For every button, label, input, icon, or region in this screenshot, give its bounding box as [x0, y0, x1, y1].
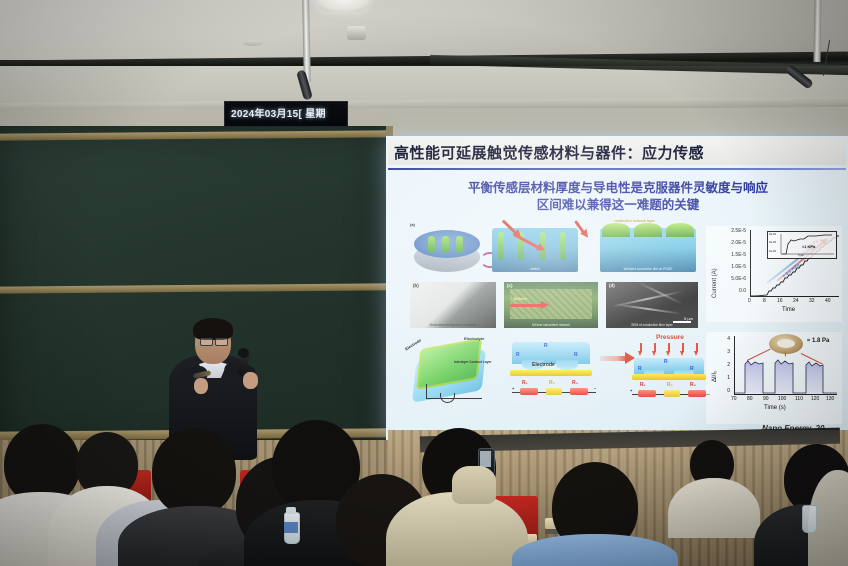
chart-current-vs-time: Current (A) 2.5E-5 2.0E-5 1.5E-5 1.0E-5 …	[706, 226, 842, 322]
chart1-xtick-1: 8	[763, 298, 766, 304]
chart2-ylabel: ΔI/I₀	[712, 371, 718, 383]
chart2-ytick-0: 0	[720, 388, 730, 394]
chart1-inset-ytick-2: 1E-03	[769, 233, 776, 236]
chart1-inset-annotation: ≈1 KPa	[802, 244, 815, 249]
circuit-resistor-label-2: R₂	[549, 380, 555, 386]
panel-d-scalebar-label: 5 μm	[684, 316, 693, 321]
panel-b-caption: Stretchable transparent substrate	[410, 323, 496, 327]
circuit-plus-1: +	[512, 386, 514, 391]
chart2-annotation-pressure: ≈ 1.8 Pa	[807, 338, 829, 344]
chart2-xtick-4: 110	[795, 396, 803, 402]
microphone-head	[238, 348, 249, 358]
chart1-xtick-2: 16	[777, 298, 783, 304]
chart1-inset-ytick-1: 1E-05	[769, 241, 776, 244]
resistance-label-pressed-rc2: R	[690, 366, 694, 372]
resistance-label-rc1: R	[516, 352, 520, 358]
chart2-xtick-3: 100	[778, 396, 786, 402]
smoke-detector-icon	[347, 26, 366, 40]
ceiling-vent	[243, 40, 263, 46]
chart1-xtick-3: 24	[793, 298, 799, 304]
chart1-ytick-2: 1.0E-5	[714, 264, 746, 270]
chart2-xtick-2: 90	[763, 396, 769, 402]
chart1-inset-ytick-0: 1E-06	[769, 250, 776, 253]
panel-c-arrow-label: MXene	[514, 296, 527, 301]
chart2-device-photo	[769, 334, 803, 354]
circuit-pressed-resistor-label-3: R₃	[690, 382, 696, 388]
device-electrolyte-label: Electrolyte	[464, 336, 484, 341]
ceiling-shading	[0, 0, 848, 60]
chart1-xtick-0: 0	[748, 298, 751, 304]
chart1-inset-xlabel: Time	[798, 254, 804, 257]
chart1-ytick-3: 1.5E-5	[714, 252, 746, 258]
panel-a-film-right: Wrinkled conductive film on PDMS	[600, 228, 696, 272]
figure-device-schematic: Electrode Electrolyte Interlayer Conduct…	[404, 336, 704, 428]
chart2-ytick-1: 1	[720, 375, 730, 381]
figure-panels-bcd: (b) Stretchable transparent substrate (c…	[404, 282, 704, 330]
circuit-minus-1: −	[594, 386, 596, 391]
speaker-hand-left	[194, 378, 208, 394]
panel-d-caption: SEM of conductive fiber layer	[606, 323, 698, 327]
panel-a-disk-schematic	[414, 230, 480, 274]
slide-subtitle-line-1: 平衡传感层材料厚度与导电性是克服器件灵敏度与响应	[396, 180, 840, 197]
circuit-resistor-label-1: R₁	[522, 380, 528, 386]
chart2-xtick-0: 70	[731, 396, 737, 402]
water-bottle-cap	[286, 507, 296, 514]
chart1-ytick-4: 2.0E-5	[714, 240, 746, 246]
panel-a-label: (a)	[410, 222, 415, 227]
chart-current-ratio-vs-time: ΔI/I₀ 4 3 2 1 0	[706, 332, 842, 424]
slide-title-underline	[388, 168, 846, 170]
chart2-ytick-2: 2	[720, 362, 730, 368]
slide-subtitle: 平衡传感层材料厚度与导电性是克服器件灵敏度与响应 区间难以兼得这一难题的关键	[396, 180, 840, 214]
speaker-hair	[193, 318, 233, 340]
circuit-pressed-resistor-label-2: R₂	[667, 382, 673, 388]
slide-subtitle-line-2: 区间难以兼得这一难题的关键	[396, 197, 840, 214]
device-electrode-label-2: Electrode	[532, 362, 555, 368]
date-display-panel: 2024年03月15[ 星期	[224, 101, 348, 127]
glasses-right-lens-icon	[215, 338, 228, 346]
panel-b-label: (b)	[413, 283, 419, 288]
chart1-xlabel: Time	[782, 307, 795, 313]
resistance-label-pressed-rs: R	[664, 359, 668, 365]
date-display-text: 2024年03月15[ 星期	[231, 105, 326, 120]
chart2-xtick-6: 130	[826, 396, 834, 402]
chart2-ytick-3: 3	[720, 349, 730, 355]
water-bottle-label	[284, 522, 298, 533]
glasses-left-lens-icon	[200, 338, 213, 346]
chart1-ytick-5: 2.5E-5	[714, 228, 746, 234]
resistance-label-rc2: R	[574, 352, 578, 358]
device-interlayer-label: Interlayer Conduct Layer	[454, 360, 492, 364]
transition-arrow	[600, 356, 628, 361]
circuit-plus-2: +	[630, 388, 632, 393]
chart1-xtick-4: 32	[809, 298, 815, 304]
panel-a-caption: Wrinkled conductive film on PDMS	[600, 267, 696, 271]
chart2-xtick-5: 120	[811, 396, 819, 402]
pressure-label: Pressure	[656, 334, 684, 341]
panel-d-label: (d)	[609, 283, 615, 288]
speaker-hand-right	[243, 372, 258, 389]
figure-panel-c: (c) MXene MXene nanosheet network	[504, 282, 598, 328]
hanging-pole-right	[813, 0, 821, 62]
panel-c-caption: MXene nanosheet network	[504, 323, 598, 327]
chart2-xtick-1: 80	[747, 396, 753, 402]
circuit-resistor-label-3: R₃	[572, 380, 578, 386]
circuit-pressed-resistor-label-1: R₁	[640, 382, 646, 388]
chart1-ytick-0: 0.0	[714, 288, 746, 294]
panel-a-annotation: conductive network layer	[614, 219, 655, 223]
chart1-inset: 1E-03 1E-05 1E-06 ≈1 KPa Time	[767, 231, 837, 259]
device-electrode-label: Electrode	[404, 338, 422, 352]
chart2-ytick-4: 4	[720, 336, 730, 342]
lecture-hall-photo: 2024年03月15[ 星期 高性能可延展触觉传感材料与器件：应力传感 平衡传感…	[0, 0, 848, 566]
chart2-plot-area: ≈ 1.8 Pa	[734, 336, 837, 395]
chart1-xtick-5: 40	[825, 298, 831, 304]
resistance-label-pressed-rc1: R	[638, 366, 642, 372]
chart2-xlabel: Time (s)	[764, 405, 786, 411]
chart1-plot-area: ≈ 0.5 KPa ≈ 12 KPa 1E-03 1E-05 1E-06 ≈1 …	[750, 230, 839, 297]
chart1-ytick-1: 5.0E-6	[714, 276, 746, 282]
resistance-label-rs: R	[544, 343, 548, 349]
figure-panel-d: (d) 5 μm SEM of conductive fiber layer	[606, 282, 698, 328]
smartphone-screen[interactable]	[480, 451, 491, 467]
panel-c-arrow	[510, 304, 544, 307]
water-bottle-2	[802, 505, 817, 533]
circuit-meter-icon	[440, 393, 455, 403]
figure-panel-b: (b) Stretchable transparent substrate	[410, 282, 496, 328]
panel-a-film-middle: stretch	[492, 228, 578, 272]
panel-c-label: (c)	[507, 283, 513, 288]
slide-title: 高性能可延展触觉传感材料与器件：应力传感	[394, 142, 844, 163]
figure-panel-a: (a) stretch Wrinkled conductive film on …	[404, 224, 704, 280]
